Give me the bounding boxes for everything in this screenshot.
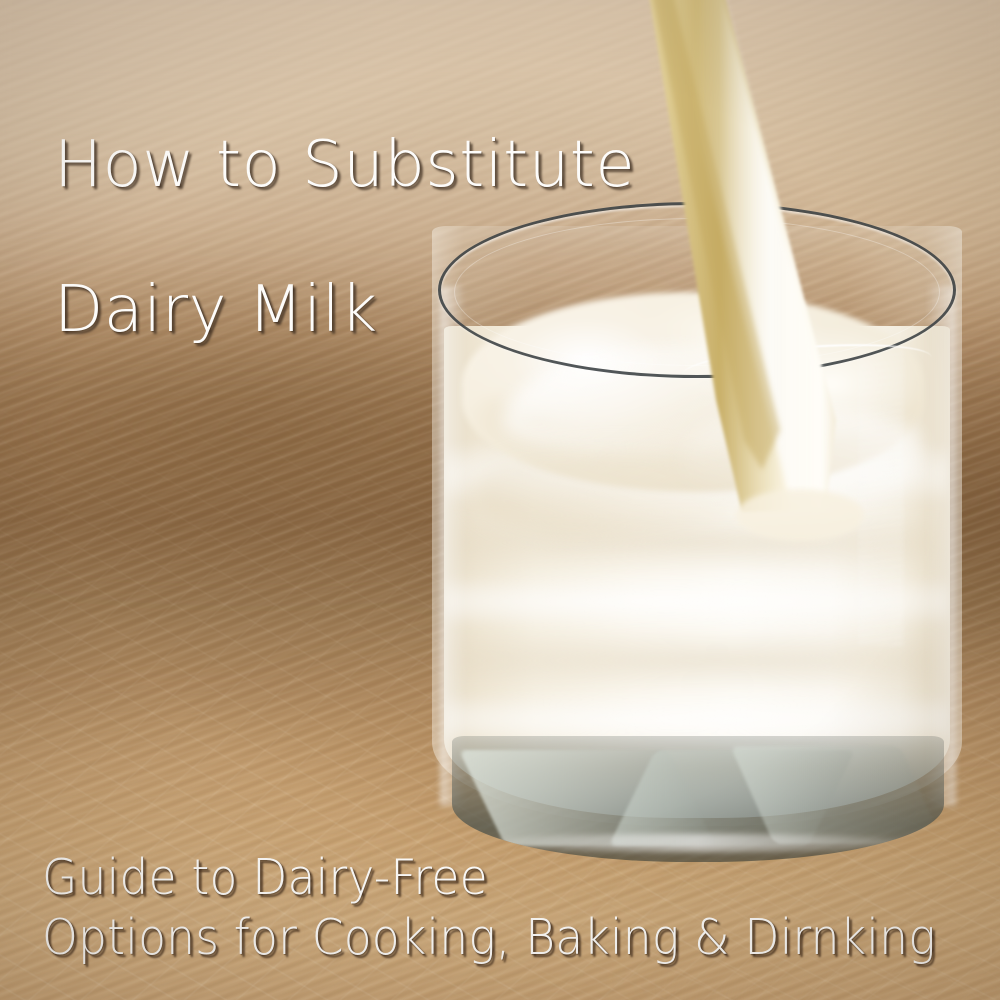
- subtitle-line-2: Options for Cooking, Baking & Dirnking: [42, 908, 936, 968]
- glass-faceted-base: [452, 736, 944, 862]
- glass-wall-highlight-right: [926, 286, 956, 806]
- title-line-2: Dairy Milk: [54, 275, 635, 347]
- title-line-1: How to Substitute: [54, 130, 635, 202]
- poster-title: How to Substitute Dairy Milk: [54, 58, 635, 418]
- glass-wall-streaks: [858, 346, 904, 646]
- milk-fold-shadow-c: [472, 446, 752, 536]
- poster-image: How to Substitute Dairy Milk Guide to Da…: [0, 0, 1000, 1000]
- poster-subtitle: Guide to Dairy-Free Options for Cooking,…: [42, 848, 936, 968]
- subtitle-line-1: Guide to Dairy-Free: [42, 848, 936, 908]
